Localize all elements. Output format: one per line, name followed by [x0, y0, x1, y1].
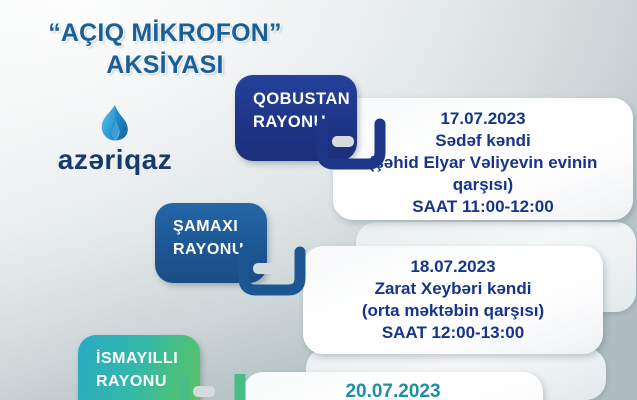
district-badge-ismayilli[interactable]: İSMAYILLI RAYONU — [78, 335, 200, 400]
district-badge-qobustan[interactable]: QOBUSTAN RAYONU — [235, 75, 357, 161]
district-badge-line-1: QOBUSTAN — [253, 88, 341, 111]
brand-name: azəriqaz — [0, 146, 230, 174]
event-detail-cont: qarşısı) — [333, 174, 633, 196]
event-date: 18.07.2023 — [303, 256, 603, 278]
event-date: 17.07.2023 — [333, 108, 633, 130]
headline-line-2: AKSİYASI — [0, 50, 330, 82]
gas-flame-icon — [98, 104, 132, 144]
event-card-samaxi[interactable]: 18.07.2023 Zarat Xeybəri kəndi (orta mək… — [303, 246, 603, 354]
district-badge-line-2: RAYONU — [96, 371, 184, 394]
headline-line-1: “AÇIQ MİKROFON” — [0, 18, 330, 50]
district-badge-line-2: RAYONU — [173, 239, 251, 262]
event-date: 20.07.2023 — [243, 380, 543, 400]
district-badge-line-1: ŞAMAXI — [173, 216, 251, 239]
event-detail: (orta məktəbin qarşısı) — [303, 300, 603, 322]
event-place: Zarat Xeybəri kəndi — [303, 278, 603, 300]
page-title: “AÇIQ MİKROFON” AKSİYASI — [0, 18, 330, 81]
district-badge-line-2: RAYONU — [253, 111, 341, 134]
district-badge-line-1: İSMAYILLI — [96, 348, 184, 371]
brand-logo: azəriqaz — [0, 104, 230, 174]
district-badge-samaxi[interactable]: ŞAMAXI RAYONU — [155, 203, 267, 283]
event-detail: (şəhid Elyar Vəliyevin evinin — [333, 152, 633, 174]
event-card-qobustan[interactable]: 17.07.2023 Sədəf kəndi (şəhid Elyar Vəli… — [333, 98, 633, 220]
event-time: SAAT 12:00-13:00 — [303, 322, 603, 344]
event-card-ismayilli[interactable]: 20.07.2023 — [243, 372, 543, 400]
event-place: Sədəf kəndi — [333, 130, 633, 152]
poster-canvas: “AÇIQ MİKROFON” AKSİYASI azəriqaz — [0, 0, 637, 400]
event-time: SAAT 11:00-12:00 — [333, 196, 633, 218]
